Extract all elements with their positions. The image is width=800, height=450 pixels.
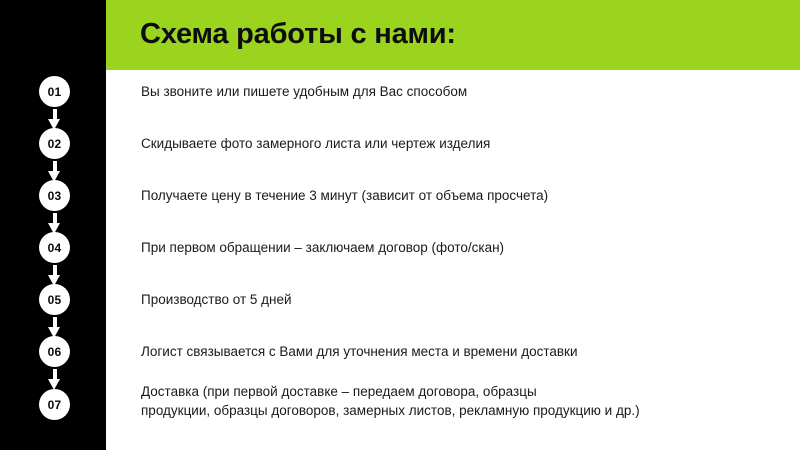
step-marker-05[interactable]: 05 [39, 284, 70, 315]
step-text-06: Логист связывается с Вами для уточнения … [141, 342, 578, 361]
step-marker-07[interactable]: 07 [39, 389, 70, 420]
arrow-down-icon-03 [48, 213, 61, 234]
step-number-label: 01 [48, 86, 62, 98]
step-marker-02[interactable]: 02 [39, 128, 70, 159]
step-number-label: 02 [48, 138, 62, 150]
step-circle-04: 04 [39, 232, 70, 263]
step-number-label: 06 [48, 346, 62, 358]
title-banner: Схема работы с нами: [106, 0, 800, 70]
arrow-down-icon-01 [48, 109, 61, 130]
step-flow-diagram: 01 02 03 04 [0, 0, 106, 450]
step-number-label: 07 [48, 399, 62, 411]
step-text-02: Скидываете фото замерного листа или черт… [141, 134, 490, 153]
step-text-03: Получаете цену в течение 3 минут (зависи… [141, 186, 548, 205]
page-title: Схема работы с нами: [140, 17, 456, 52]
step-circle-06: 06 [39, 336, 70, 367]
step-circle-03: 03 [39, 180, 70, 211]
step-circle-05: 05 [39, 284, 70, 315]
slide-canvas: 01 02 03 04 [0, 0, 800, 450]
step-marker-01[interactable]: 01 [39, 76, 70, 107]
arrow-down-icon-02 [48, 161, 61, 182]
step-circle-01: 01 [39, 76, 70, 107]
step-number-label: 03 [48, 190, 62, 202]
step-circle-07: 07 [39, 389, 70, 420]
step-marker-03[interactable]: 03 [39, 180, 70, 211]
step-number-label: 05 [48, 294, 62, 306]
step-marker-06[interactable]: 06 [39, 336, 70, 367]
step-number-label: 04 [48, 242, 62, 254]
arrow-down-icon-04 [48, 265, 61, 286]
arrow-down-icon-06 [48, 369, 61, 390]
step-text-05: Производство от 5 дней [141, 290, 292, 309]
step-text-04: При первом обращении – заключаем договор… [141, 238, 504, 257]
step-text-01: Вы звоните или пишете удобным для Вас сп… [141, 82, 467, 101]
arrow-down-icon-05 [48, 317, 61, 338]
step-marker-04[interactable]: 04 [39, 232, 70, 263]
steps-text-column: Вы звоните или пишете удобным для Вас сп… [141, 70, 791, 450]
step-text-07: Доставка (при первой доставке – передаем… [141, 382, 640, 420]
step-circle-02: 02 [39, 128, 70, 159]
